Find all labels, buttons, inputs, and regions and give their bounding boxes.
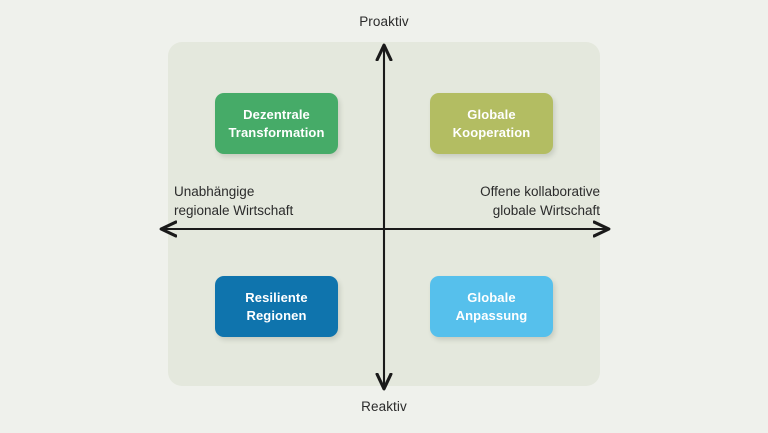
axis-label-proaktiv: Proaktiv <box>0 13 768 31</box>
quadrant-box-globale-anpassung[interactable]: Globale Anpassung <box>430 276 553 337</box>
quadrant-label: Dezentrale Transformation <box>228 106 324 140</box>
axis-group <box>0 0 768 433</box>
quadrant-box-globale-kooperation[interactable]: Globale Kooperation <box>430 93 553 154</box>
quadrant-label: Globale Kooperation <box>453 106 531 140</box>
quadrant-label: Globale Anpassung <box>456 289 528 323</box>
axis-label-reaktiv: Reaktiv <box>0 398 768 416</box>
quadrant-box-dezentrale-transformation[interactable]: Dezentrale Transformation <box>215 93 338 154</box>
quadrant-box-resiliente-regionen[interactable]: Resiliente Regionen <box>215 276 338 337</box>
diagram-canvas: Proaktiv Reaktiv Unabhängige regionale W… <box>0 0 768 433</box>
axis-label-left-economy: Unabhängige regionale Wirtschaft <box>174 182 293 220</box>
axis-label-right-economy: Offene kollaborative globale Wirtschaft <box>480 182 600 220</box>
quadrant-label: Resiliente Regionen <box>245 289 307 323</box>
